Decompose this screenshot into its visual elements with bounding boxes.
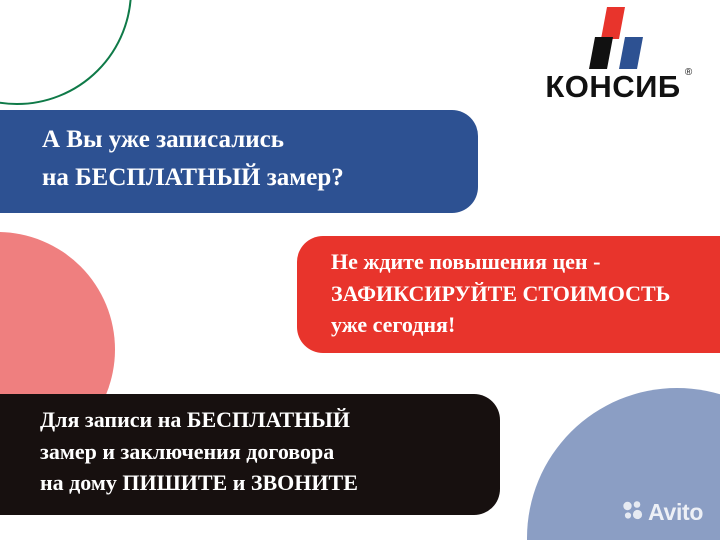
banner-red-line-1: Не ждите повышения цен - bbox=[331, 248, 720, 277]
registered-trademark-icon: ® bbox=[685, 68, 693, 78]
logo-wordmark-text: КОНСИБ bbox=[545, 69, 680, 104]
banner-black-line-3: на дому ПИШИТЕ и ЗВОНИТЕ bbox=[40, 469, 500, 498]
banner-red-line-3: уже сегодня! bbox=[331, 311, 720, 340]
banner-red-urgency: Не ждите повышения цен - ЗАФИКСИРУЙТЕ СТ… bbox=[297, 236, 720, 353]
company-logo: КОНСИБ ® bbox=[524, 7, 702, 102]
banner-red-line-2: ЗАФИКСИРУЙТЕ СТОИМОСТЬ bbox=[331, 280, 720, 309]
avito-dots-icon bbox=[622, 500, 644, 525]
banner-black-line-2: замер и заключения договора bbox=[40, 438, 500, 467]
banner-blue-line-1: А Вы уже записались bbox=[42, 124, 478, 157]
avito-watermark: Avito bbox=[622, 500, 703, 525]
avito-watermark-label: Avito bbox=[648, 501, 703, 524]
banner-blue-question: А Вы уже записались на БЕСПЛАТНЫЙ замер? bbox=[0, 110, 478, 213]
banner-black-callto-action: Для записи на БЕСПЛАТНЫЙ замер и заключе… bbox=[0, 394, 500, 515]
banner-black-line-1: Для записи на БЕСПЛАТНЫЙ bbox=[40, 406, 500, 435]
banner-blue-line-2: на БЕСПЛАТНЫЙ замер? bbox=[42, 162, 478, 195]
logo-mark-icon bbox=[577, 7, 649, 69]
green-ring-decoration bbox=[0, 0, 132, 105]
poster-canvas: КОНСИБ ® А Вы уже записались на БЕСПЛАТН… bbox=[0, 0, 720, 540]
logo-wordmark: КОНСИБ ® bbox=[545, 71, 680, 102]
